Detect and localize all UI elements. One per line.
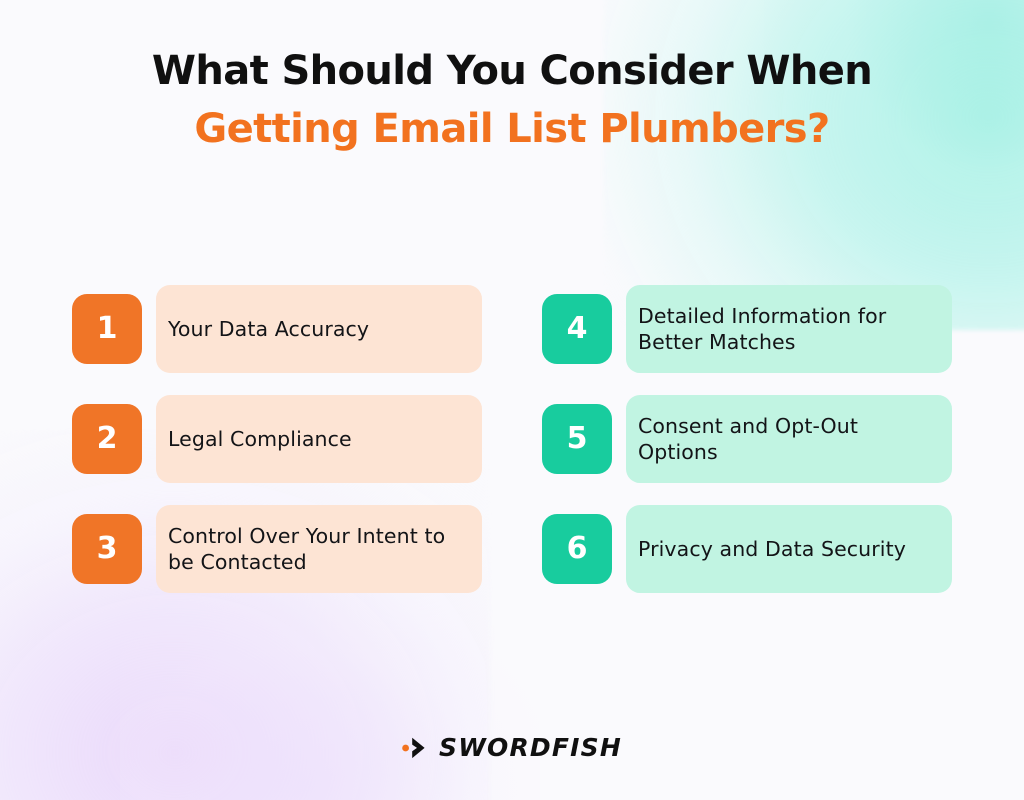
list-item-5-number: 5 (542, 404, 612, 474)
list-item-4-number: 4 (542, 294, 612, 364)
chevron-dot-icon (402, 736, 428, 760)
list-item-3-number: 3 (72, 514, 142, 584)
list-item-3-label: Control Over Your Intent to be Contacted (168, 523, 482, 575)
list-item-6[interactable]: 6 Privacy and Data Security (542, 505, 952, 593)
list-item-1-label: Your Data Accuracy (168, 316, 385, 342)
brand-logo: SWORDFISH (0, 735, 1024, 760)
background-glow-lavender-2 (120, 590, 540, 800)
list-item-4[interactable]: 4 Detailed Information for Better Matche… (542, 285, 952, 373)
brand-name: SWORDFISH (439, 735, 622, 760)
list-item-5-label: Consent and Opt-Out Options (638, 413, 952, 465)
list-item-4-label: Detailed Information for Better Matches (638, 303, 952, 355)
consideration-list: 1 Your Data Accuracy 4 Detailed Informat… (72, 285, 952, 593)
list-item-2[interactable]: 2 Legal Compliance (72, 395, 482, 483)
list-item-1-number: 1 (72, 294, 142, 364)
list-item-6-label: Privacy and Data Security (638, 536, 922, 562)
list-item-2-label: Legal Compliance (168, 426, 368, 452)
page-title: What Should You Consider When Getting Em… (0, 42, 1024, 158)
list-item-3[interactable]: 3 Control Over Your Intent to be Contact… (72, 505, 482, 593)
page-title-line-1: What Should You Consider When (0, 42, 1024, 100)
list-item-6-number: 6 (542, 514, 612, 584)
list-item-5[interactable]: 5 Consent and Opt-Out Options (542, 395, 952, 483)
page-title-line-2: Getting Email List Plumbers? (0, 100, 1024, 158)
list-item-2-number: 2 (72, 404, 142, 474)
infographic-canvas: What Should You Consider When Getting Em… (0, 0, 1024, 800)
list-item-1[interactable]: 1 Your Data Accuracy (72, 285, 482, 373)
